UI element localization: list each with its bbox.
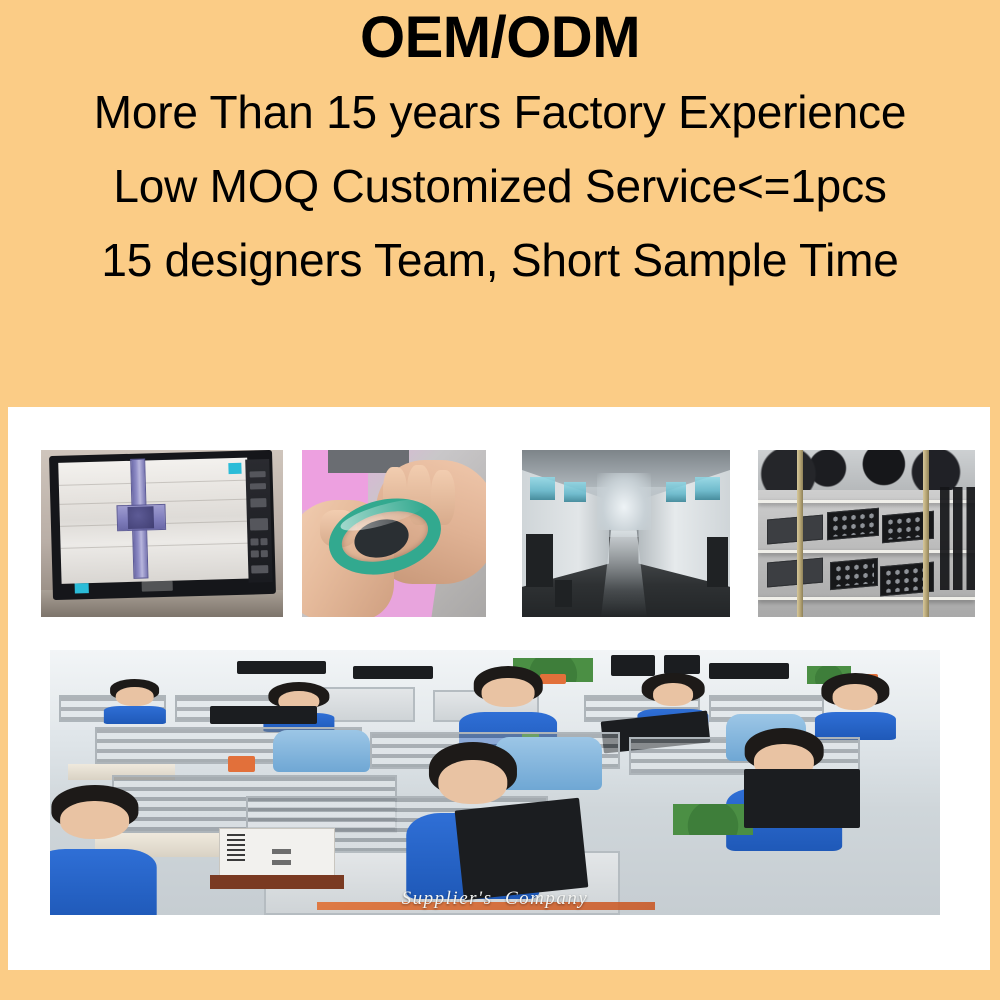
photo-cad-design bbox=[41, 450, 283, 617]
page-title: OEM/ODM bbox=[0, 8, 1000, 67]
worker-figure bbox=[815, 677, 895, 741]
worker-figure bbox=[103, 682, 165, 724]
photo-silicone-mold bbox=[302, 450, 486, 617]
photo-factory-corridor-image bbox=[522, 450, 730, 617]
desk-calendar bbox=[219, 828, 335, 881]
photo-design-office: Supplier's Company bbox=[50, 650, 940, 915]
headline-line-3: 15 designers Team, Short Sample Time bbox=[0, 237, 1000, 283]
photo-jewelry-display-image bbox=[758, 450, 975, 617]
photo-jewelry-display bbox=[758, 450, 975, 617]
headline-block: OEM/ODM More Than 15 years Factory Exper… bbox=[0, 8, 1000, 283]
oem-odm-banner: OEM/ODM More Than 15 years Factory Exper… bbox=[0, 0, 1000, 1000]
photo-watermark: Supplier's Company bbox=[50, 888, 940, 910]
photo-silicone-mold-image bbox=[302, 450, 486, 617]
gallery-panel: Supplier's Company bbox=[8, 407, 990, 970]
thumbnail-row bbox=[33, 450, 968, 617]
photo-cad-design-image bbox=[41, 450, 283, 617]
headline-line-1: More Than 15 years Factory Experience bbox=[0, 89, 1000, 135]
photo-factory-corridor bbox=[522, 450, 730, 617]
headline-line-2: Low MOQ Customized Service<=1pcs bbox=[0, 163, 1000, 209]
photo-design-office-image: Supplier's Company bbox=[50, 650, 940, 915]
